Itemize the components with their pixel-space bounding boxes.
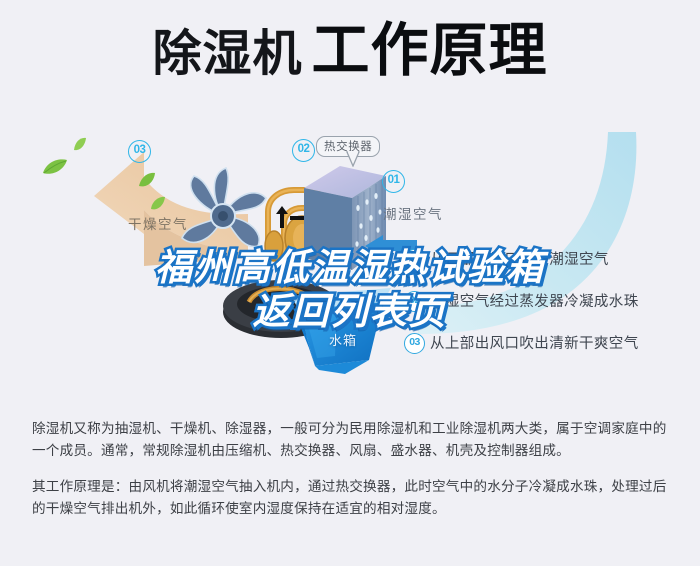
leaf-icon xyxy=(150,196,166,211)
diagram-badge-03: 03 xyxy=(128,140,151,163)
step-badge-03: 03 xyxy=(404,333,425,354)
step-badge-01: 01 xyxy=(404,249,425,270)
page-root: 除湿机 工作原理 xyxy=(0,0,700,566)
page-title: 除湿机 工作原理 xyxy=(0,22,700,80)
step-text-02: 潮湿空气经过蒸发器冷凝成水珠 xyxy=(430,290,639,311)
list-item: 03 从上部出风口吹出清新干爽空气 xyxy=(404,332,700,354)
step-text-03: 从上部出风口吹出清新干爽空气 xyxy=(430,332,639,353)
leaf-icon xyxy=(138,172,156,188)
leaf-icon xyxy=(73,137,87,151)
diagram-badge-02: 02 xyxy=(292,139,315,162)
dry-air-label: 干燥空气 xyxy=(128,213,188,233)
title-part-principle: 工作原理 xyxy=(312,22,548,80)
description-paragraph-1: 除湿机又称为抽湿机、干燥机、除湿器，一般可分为民用除湿机和工业除湿机两大类，属于… xyxy=(32,418,672,462)
step-badge-02: 02 xyxy=(404,291,425,312)
diagram-badge-01: 01 xyxy=(382,170,405,193)
title-part-dehumidifier: 除湿机 xyxy=(152,30,302,79)
step-text-01: 从下部进风口吸入潮湿空气 xyxy=(430,248,609,269)
list-item: 02 潮湿空气经过蒸发器冷凝成水珠 xyxy=(404,290,700,312)
humid-air-label: 潮湿空气 xyxy=(383,203,443,223)
callout-pointer-icon xyxy=(346,151,360,167)
step-list: 01 从下部进风口吸入潮湿空气 02 潮湿空气经过蒸发器冷凝成水珠 03 从上部… xyxy=(404,248,700,374)
description-paragraph-2: 其工作原理是：由风机将潮湿空气抽入机内，通过热交换器，此时空气中的水分子冷凝成水… xyxy=(32,476,672,520)
description-text: 除湿机又称为抽湿机、干燥机、除湿器，一般可分为民用除湿机和工业除湿机两大类，属于… xyxy=(32,418,672,520)
water-tank-label: 水箱 xyxy=(329,330,357,349)
leaf-icon xyxy=(42,158,68,176)
list-item: 01 从下部进风口吸入潮湿空气 xyxy=(404,248,700,270)
